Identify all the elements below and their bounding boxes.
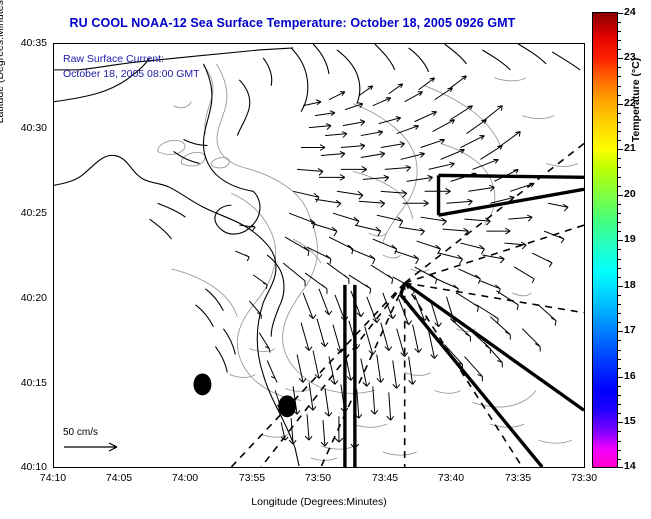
colorbar-minor-tick	[618, 40, 621, 41]
colorbar-minor-tick	[618, 359, 621, 360]
colorbar-minor-tick	[618, 386, 621, 387]
colorbar-minor-tick	[618, 259, 621, 260]
map-plot-area[interactable]: Raw Surface Current: October 18, 2005 08…	[53, 43, 585, 468]
velocity-scale-arrow-icon	[63, 441, 125, 453]
colorbar-minor-tick	[618, 158, 621, 159]
x-tick-label: 74:05	[89, 472, 149, 484]
colorbar-minor-tick	[618, 86, 621, 87]
colorbar-minor-tick	[618, 277, 621, 278]
x-tick-label: 73:35	[488, 472, 548, 484]
colorbar-minor-tick	[618, 140, 621, 141]
colorbar-minor-tick	[618, 395, 621, 396]
colorbar-tick	[618, 13, 623, 14]
colorbar-minor-tick	[618, 167, 621, 168]
colorbar-minor-tick	[618, 204, 621, 205]
colorbar-tick-label: 18	[624, 279, 636, 291]
colorbar-tick-label: 16	[624, 370, 636, 382]
x-tick-label: 73:45	[355, 472, 415, 484]
colorbar-minor-tick	[618, 441, 621, 442]
colorbar-minor-tick	[618, 222, 621, 223]
y-tick-label: 40:25	[3, 207, 47, 219]
colorbar-tick-label: 24	[624, 6, 636, 18]
station-marker	[278, 395, 296, 417]
colorbar-tick	[618, 422, 623, 423]
colorbar-minor-tick	[618, 67, 621, 68]
x-axis-label: Longitude (Degrees:Minutes)	[53, 496, 585, 508]
y-tick-label: 40:35	[3, 37, 47, 49]
y-axis-label: Latitude (Degrees:Minutes)	[0, 0, 6, 140]
colorbar-tick	[618, 240, 623, 241]
temperature-colorbar[interactable]	[592, 12, 618, 468]
colorbar-tick-label: 14	[624, 460, 636, 472]
colorbar-minor-tick	[618, 113, 621, 114]
colorbar-tick-label: 19	[624, 233, 636, 245]
shipping-lane-solid-lines	[345, 175, 584, 467]
colorbar-minor-tick	[618, 340, 621, 341]
colorbar-minor-tick	[618, 304, 621, 305]
figure-title: RU COOL NOAA-12 Sea Surface Temperature:…	[0, 16, 585, 30]
station-marker	[193, 373, 211, 395]
colorbar-minor-tick	[618, 368, 621, 369]
colorbar-tick	[618, 104, 623, 105]
velocity-scale-bar: 50 cm/s	[63, 427, 125, 453]
colorbar-minor-tick	[618, 31, 621, 32]
x-tick-label: 74:10	[23, 472, 83, 484]
colorbar-minor-tick	[618, 431, 621, 432]
colorbar-minor-tick	[618, 22, 621, 23]
colorbar-tick-label: 17	[624, 324, 636, 336]
x-tick-label: 73:55	[222, 472, 282, 484]
colorbar-minor-tick	[618, 231, 621, 232]
bathymetry-contours	[158, 64, 578, 460]
colorbar-tick	[618, 467, 623, 468]
colorbar-tick	[618, 331, 623, 332]
velocity-scale-label: 50 cm/s	[63, 427, 98, 438]
colorbar-tick-label: 20	[624, 188, 636, 200]
colorbar-tick	[618, 58, 623, 59]
map-canvas	[54, 44, 584, 467]
colorbar-minor-tick	[618, 249, 621, 250]
colorbar-minor-tick	[618, 350, 621, 351]
colorbar-minor-tick	[618, 95, 621, 96]
surface-current-vectors	[235, 76, 568, 448]
x-tick-label: 73:50	[288, 472, 348, 484]
colorbar-minor-tick	[618, 450, 621, 451]
sst-map-figure: RU COOL NOAA-12 Sea Surface Temperature:…	[0, 0, 651, 519]
y-tick-label: 40:15	[3, 377, 47, 389]
x-tick-label: 74:00	[155, 472, 215, 484]
y-tick-label: 40:30	[3, 122, 47, 134]
colorbar-minor-tick	[618, 76, 621, 77]
colorbar-minor-tick	[618, 313, 621, 314]
colorbar-minor-tick	[618, 131, 621, 132]
colorbar-minor-tick	[618, 177, 621, 178]
colorbar-minor-tick	[618, 122, 621, 123]
colorbar-tick	[618, 149, 623, 150]
colorbar-minor-tick	[618, 295, 621, 296]
x-tick-label: 73:40	[421, 472, 481, 484]
colorbar-tick	[618, 377, 623, 378]
colorbar-tick-label: 15	[624, 415, 636, 427]
colorbar-minor-tick	[618, 413, 621, 414]
colorbar-minor-tick	[618, 49, 621, 50]
x-tick-label: 73:30	[554, 472, 614, 484]
colorbar-axis-label: Temperature (°C)	[630, 25, 642, 175]
colorbar-minor-tick	[618, 459, 621, 460]
colorbar-minor-tick	[618, 268, 621, 269]
colorbar-minor-tick	[618, 186, 621, 187]
colorbar-tick	[618, 286, 623, 287]
colorbar-minor-tick	[618, 404, 621, 405]
colorbar-minor-tick	[618, 322, 621, 323]
colorbar-tick	[618, 195, 623, 196]
colorbar-minor-tick	[618, 213, 621, 214]
y-tick-label: 40:20	[3, 292, 47, 304]
